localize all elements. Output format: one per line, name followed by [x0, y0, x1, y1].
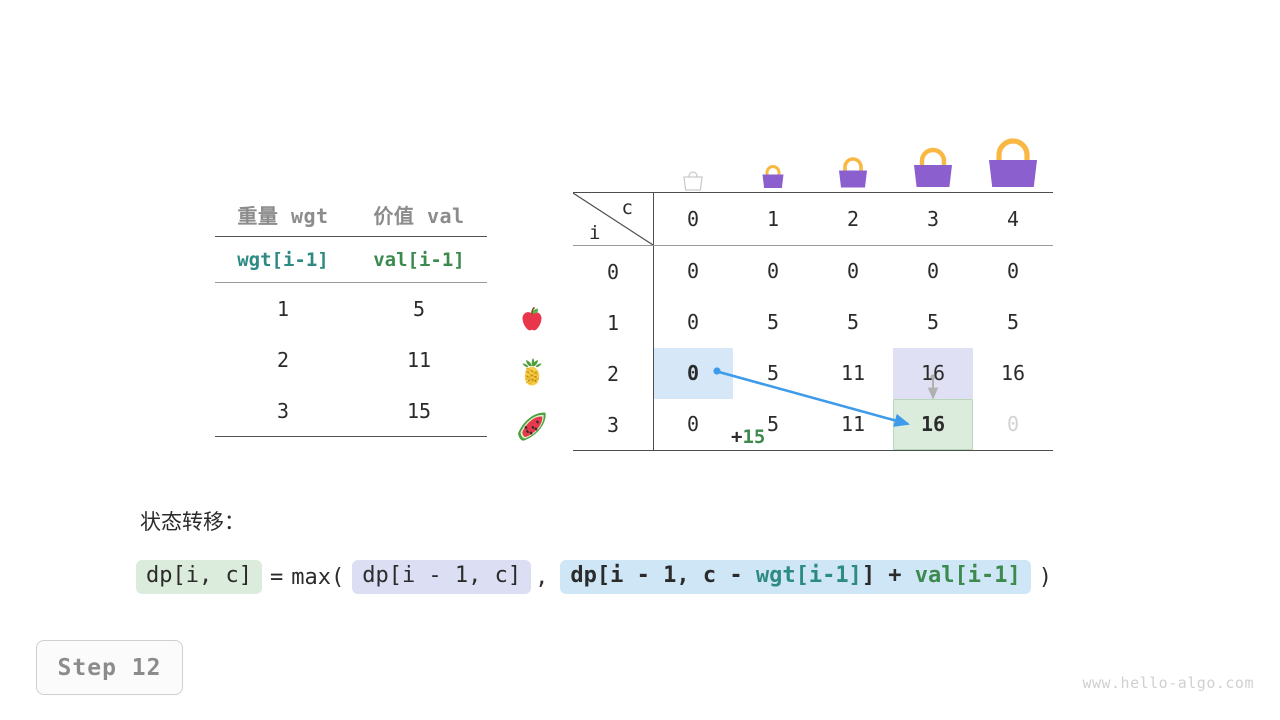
- dp-cell-2-2: 11: [813, 348, 893, 399]
- items-subheader-val: val[i-1]: [351, 249, 487, 271]
- dp-col-header-4: 4: [973, 193, 1053, 245]
- dp-cell-2-0: 0: [653, 348, 733, 399]
- item-wgt-3: 3: [215, 399, 351, 423]
- dp-row-header-3: 3: [573, 413, 653, 437]
- apple-icon: [508, 296, 556, 347]
- dp-cell-1-4: 5: [973, 297, 1053, 348]
- dp-cell-0-0: 0: [653, 246, 733, 297]
- dp-cell-1-2: 5: [813, 297, 893, 348]
- dp-col-header-3: 3: [893, 193, 973, 245]
- formula-arg2-mid: ] +: [862, 563, 915, 588]
- dp-cell-1-3: 5: [893, 297, 973, 348]
- formula-lhs: dp[i, c]: [136, 560, 262, 594]
- dp-cell-3-1: 5: [733, 399, 813, 450]
- item-val-1: 5: [351, 297, 487, 321]
- dp-cell-0-3: 0: [893, 246, 973, 297]
- dp-table: c i 0 1 2 3 4: [573, 192, 1053, 451]
- bag-capacity-row: [653, 118, 1053, 192]
- dp-row-header-0: 0: [573, 260, 653, 284]
- formula-arg2: dp[i - 1, c - wgt[i-1]] + val[i-1]: [560, 560, 1030, 594]
- formula-comma: ,: [531, 565, 552, 590]
- dp-row: 0 0 0 0 0 0: [573, 246, 1053, 297]
- items-subheader-wgt: wgt[i-1]: [215, 249, 351, 271]
- item-wgt-2: 2: [215, 348, 351, 372]
- dp-col-header-0: 0: [653, 193, 733, 245]
- dp-cell-0-2: 0: [813, 246, 893, 297]
- items-header-val: 价值 val: [351, 200, 487, 229]
- dp-cell-2-4: 16: [973, 348, 1053, 399]
- formula-arg1: dp[i - 1, c]: [352, 560, 531, 594]
- dp-row: 3 0 5 11 16 0: [573, 399, 1053, 450]
- pineapple-icon: [508, 347, 556, 398]
- formula-max-open: max(: [291, 565, 344, 590]
- formula-arg2-val: val[i-1]: [915, 563, 1021, 588]
- bag-icon-capacity-0: [653, 118, 733, 192]
- dp-cell-2-1: 5: [733, 348, 813, 399]
- dp-cell-3-0: 0: [653, 399, 733, 450]
- bag-icon-capacity-2: [813, 118, 893, 192]
- bag-icon-capacity-1: [733, 118, 813, 192]
- items-table-row: 2 11: [215, 334, 487, 385]
- state-transition-formula: dp[i, c] = max( dp[i - 1, c] , dp[i - 1,…: [136, 560, 1060, 594]
- dp-cell-1-1: 5: [733, 297, 813, 348]
- dp-cell-2-3: 16: [893, 348, 973, 399]
- item-wgt-1: 1: [215, 297, 351, 321]
- dp-row: 2 0 5 11 16 16: [573, 348, 1053, 399]
- watermelon-icon: [508, 398, 556, 449]
- items-table-row: 1 5: [215, 283, 487, 334]
- items-table-row: 3 15: [215, 385, 487, 436]
- dp-body: +15 0 0 0 0 0 0 1 0 5 5 5 5 2 0 5 11 16 …: [573, 246, 1053, 450]
- items-table-header-row: 重量 wgt 价值 val: [215, 192, 487, 236]
- items-table-rule-bottom: [215, 436, 487, 437]
- formula-arg2-prefix: dp[i - 1, c -: [570, 563, 755, 588]
- formula-arg2-wgt: wgt[i-1]: [756, 563, 862, 588]
- dp-row: 1 0 5 5 5 5: [573, 297, 1053, 348]
- item-val-3: 15: [351, 399, 487, 423]
- item-val-2: 11: [351, 348, 487, 372]
- items-table-subheader-row: wgt[i-1] val[i-1]: [215, 237, 487, 282]
- bag-icon-capacity-4: [973, 118, 1053, 192]
- dp-col-header-2: 2: [813, 193, 893, 245]
- dp-cell-3-3: 16: [893, 399, 973, 450]
- dp-col-header-1: 1: [733, 193, 813, 245]
- items-header-wgt: 重量 wgt: [215, 200, 351, 229]
- formula-max-close: ): [1031, 565, 1060, 590]
- items-table: 重量 wgt 价值 val wgt[i-1] val[i-1] 1 5 2 11…: [215, 192, 487, 437]
- dp-cell-0-4: 0: [973, 246, 1053, 297]
- dp-header-row: c i 0 1 2 3 4: [573, 193, 1053, 245]
- formula-equals: =: [262, 565, 291, 590]
- dp-cell-3-2: 11: [813, 399, 893, 450]
- dp-cell-0-1: 0: [733, 246, 813, 297]
- bag-icon-capacity-3: [893, 118, 973, 192]
- dp-row-header-2: 2: [573, 362, 653, 386]
- dp-table-rule-bottom: [573, 450, 1053, 451]
- fruit-icon-column: [508, 296, 556, 449]
- dp-row-header-1: 1: [573, 311, 653, 335]
- footer-url: www.hello-algo.com: [1082, 674, 1254, 692]
- dp-cell-1-0: 0: [653, 297, 733, 348]
- step-badge: Step 12: [36, 640, 183, 695]
- state-transition-label: 状态转移：: [140, 506, 245, 536]
- dp-cell-3-4: 0: [973, 399, 1053, 450]
